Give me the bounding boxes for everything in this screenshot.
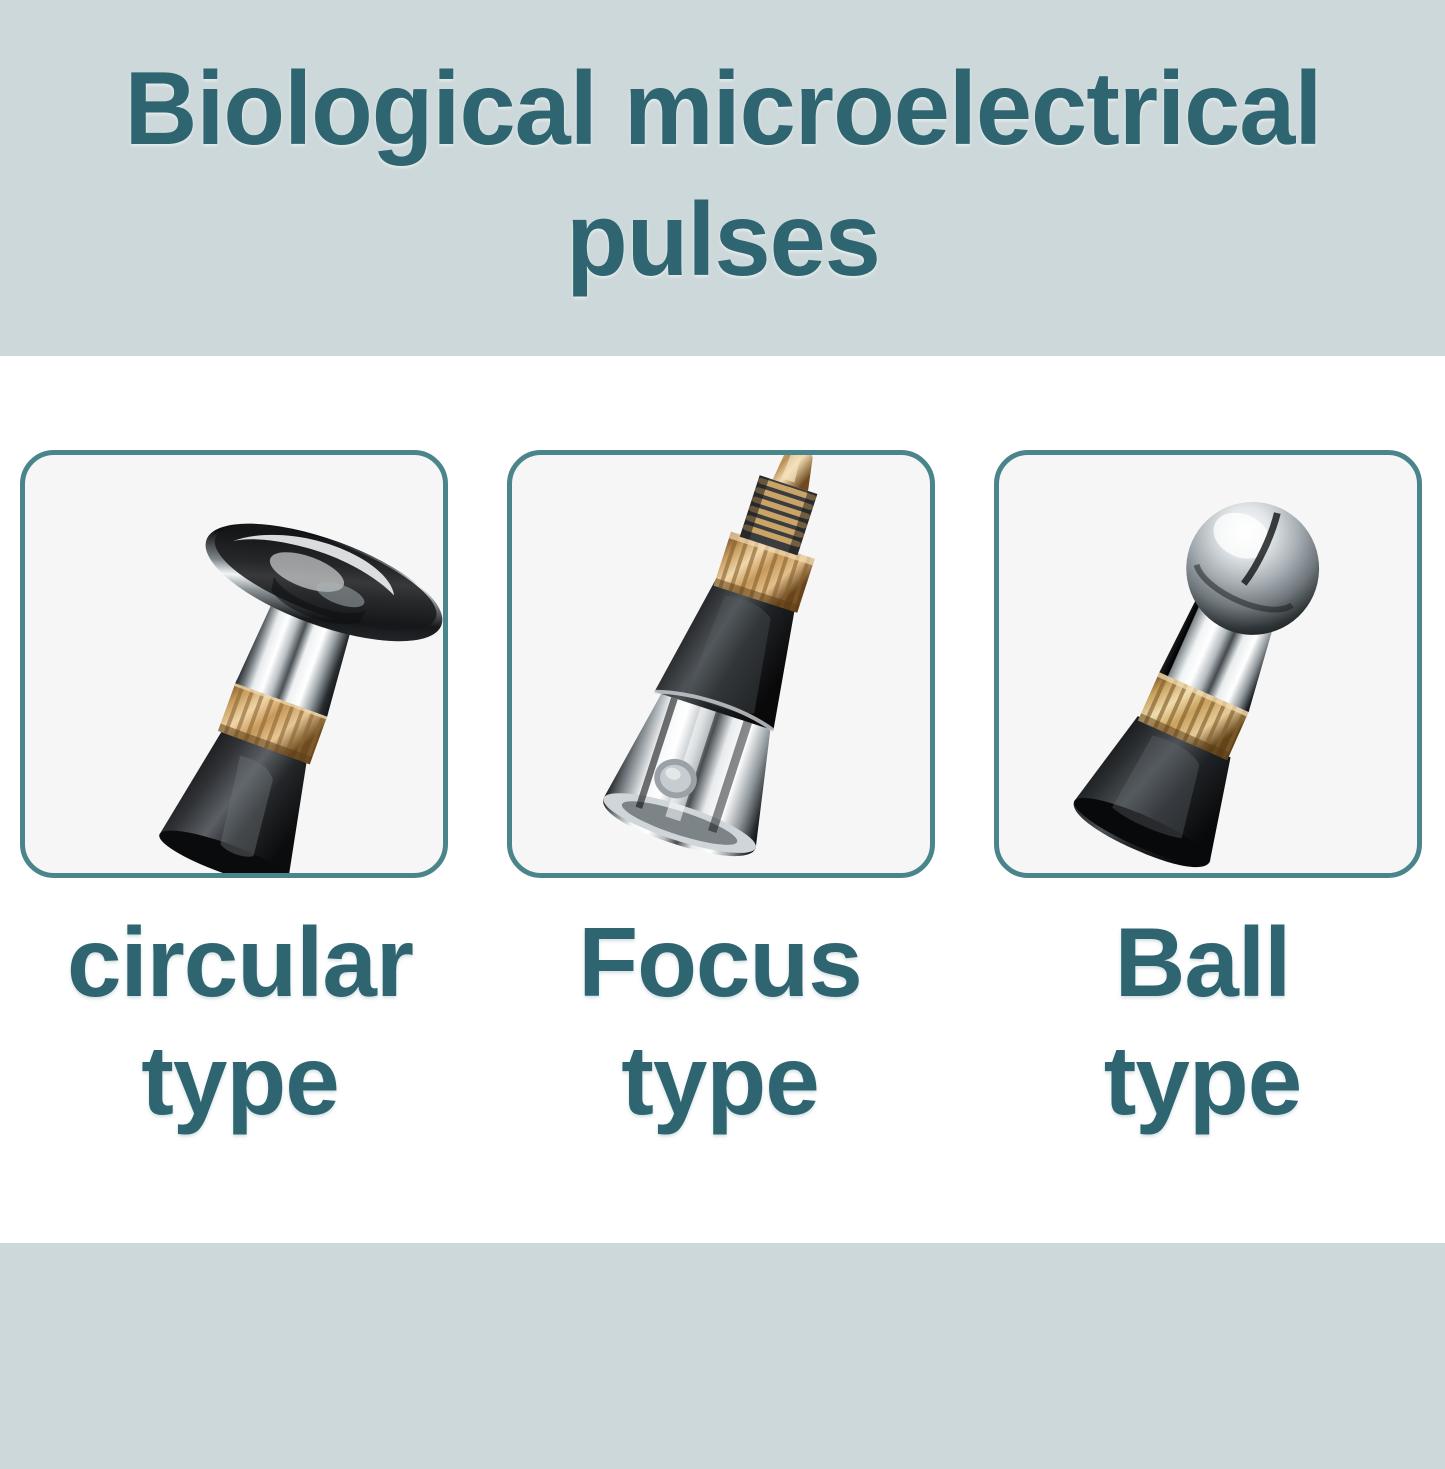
header-band: Biological microelectrical pulses (0, 0, 1445, 356)
product-label-focus-type: Focus type (480, 904, 960, 1139)
product-labels-row: circular type Focus type Ball type (0, 904, 1445, 1139)
label-cell-circular-type: circular type (0, 904, 480, 1139)
main-content-area: circular type Focus type Ball type (0, 356, 1445, 1243)
product-card-ball-type[interactable] (994, 450, 1422, 878)
footer-band (0, 1243, 1445, 1469)
focus-type-product-image (512, 455, 930, 873)
label-cell-ball-type: Ball type (960, 904, 1445, 1139)
circular-type-product-image (25, 455, 443, 873)
product-label-circular-type: circular type (0, 904, 480, 1139)
ball-type-product-image (999, 455, 1417, 873)
product-cards-row (20, 450, 1422, 878)
product-card-circular-type[interactable] (20, 450, 448, 878)
product-label-ball-type: Ball type (960, 904, 1445, 1139)
page-title: Biological microelectrical pulses (44, 44, 1402, 312)
label-cell-focus-type: Focus type (480, 904, 960, 1139)
product-card-focus-type[interactable] (507, 450, 935, 878)
